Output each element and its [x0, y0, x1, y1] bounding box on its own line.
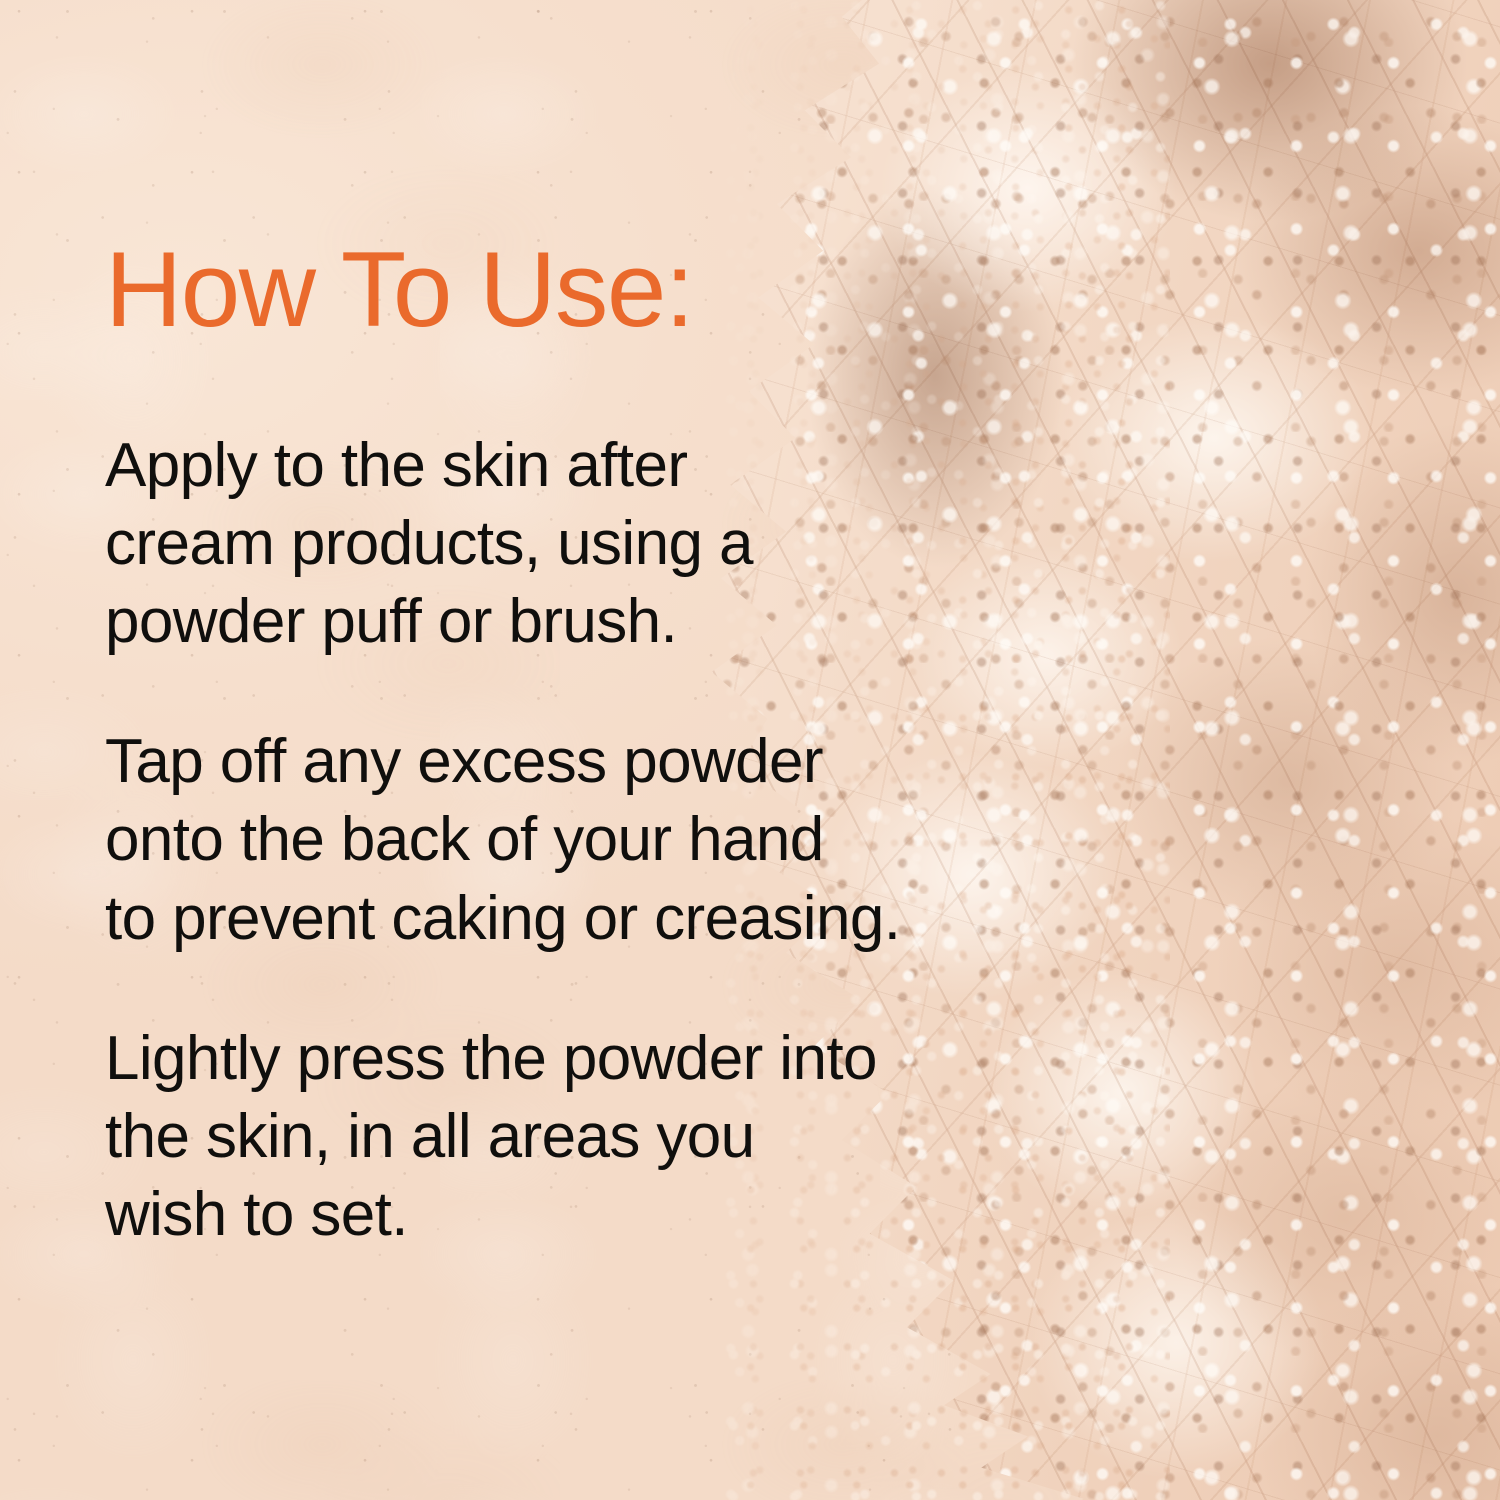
- instructions-column: How To Use: Apply to the skin after crea…: [105, 236, 985, 1254]
- instruction-step-press: Lightly press the powder into the skin, …: [105, 1020, 985, 1254]
- page-title: How To Use:: [105, 236, 985, 343]
- instruction-step-tap-off: Tap off any excess powder onto the back …: [105, 723, 985, 957]
- how-to-use-panel: How To Use: Apply to the skin after crea…: [0, 0, 1500, 1500]
- instruction-step-apply: Apply to the skin after cream products, …: [105, 427, 985, 661]
